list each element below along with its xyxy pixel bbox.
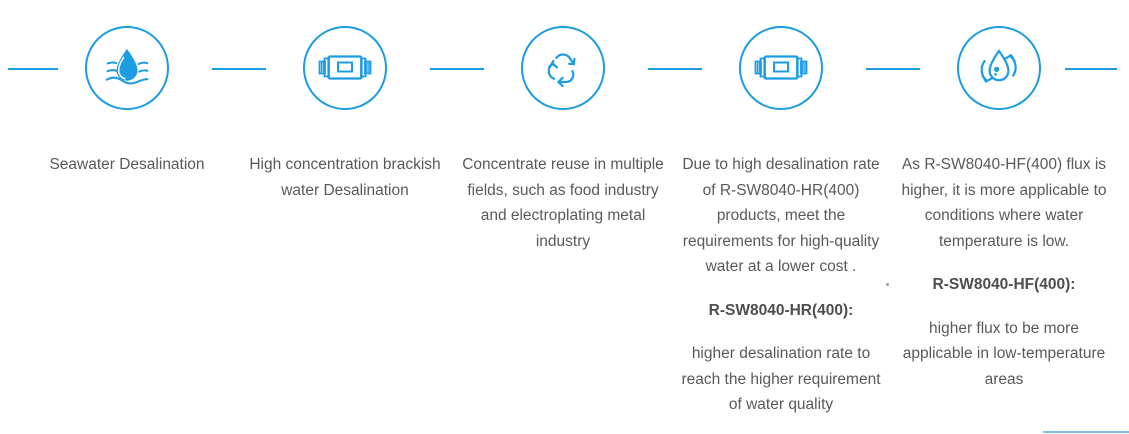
recycle-glyph: [539, 44, 587, 92]
connector-line: [212, 68, 266, 70]
connector-line: [430, 68, 484, 70]
column-paragraph: higher desalination rate to reach the hi…: [680, 341, 882, 418]
column-paragraph: As R-SW8040-HF(400) flux is higher, it i…: [898, 152, 1110, 254]
column-high-flux-low-temperature: As R-SW8040-HF(400) flux is higher, it i…: [890, 152, 1118, 418]
column-paragraph: Concentrate reuse in multiple fields, su…: [462, 152, 664, 254]
column-paragraph: Seawater Desalination: [26, 152, 228, 178]
connector-line: [866, 68, 920, 70]
recycle-icon: [521, 26, 605, 110]
column-paragraph: higher flux to be more applicable in low…: [898, 316, 1110, 393]
feature-columns: Seawater Desalination High concentration…: [0, 152, 1129, 418]
bullet-tick-mark: [886, 283, 889, 286]
membrane-vessel-icon: [739, 26, 823, 110]
water-drop-waves-glyph: [99, 40, 155, 96]
column-paragraph: Due to high desalination rate of R-SW804…: [680, 152, 882, 280]
bottom-accent-rule: [1043, 431, 1129, 433]
connector-line: [648, 68, 702, 70]
column-brackish-water-desalination: High concentration brackish water Desali…: [236, 152, 454, 418]
column-seawater-desalination: Seawater Desalination: [18, 152, 236, 418]
column-paragraph: High concentration brackish water Desali…: [244, 152, 446, 203]
connector-line: [1065, 68, 1117, 70]
water-drop-cycle-icon: [957, 26, 1041, 110]
water-drop-cycle-glyph: [971, 40, 1027, 96]
product-model-heading: R-SW8040-HR(400):: [680, 298, 882, 324]
water-drop-waves-icon: [85, 26, 169, 110]
membrane-vessel-glyph: [752, 47, 810, 89]
membrane-vessel-icon: [303, 26, 387, 110]
column-high-desalination-rate: Due to high desalination rate of R-SW804…: [672, 152, 890, 418]
process-flow-strip: [0, 0, 1129, 140]
membrane-vessel-glyph: [316, 47, 374, 89]
column-concentrate-reuse: Concentrate reuse in multiple fields, su…: [454, 152, 672, 418]
connector-line: [8, 68, 58, 70]
product-model-heading: R-SW8040-HF(400):: [898, 272, 1110, 298]
